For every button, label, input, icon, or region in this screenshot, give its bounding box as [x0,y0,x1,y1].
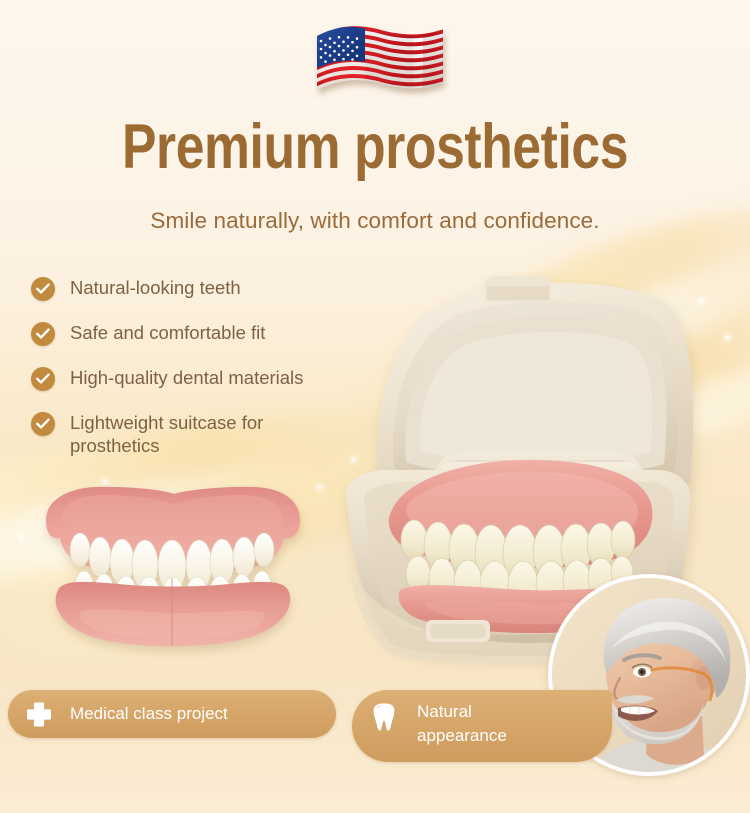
badge-medical-class-project: Medical class project [8,690,336,738]
feature-label: Natural-looking teeth [70,276,241,299]
feature-list: Natural-looking teeth Safe and comfortab… [31,276,361,457]
us-flag-icon [303,20,453,115]
page-title: Premium prosthetics [68,112,683,182]
page-subtitle: Smile naturally, with comfort and confid… [0,208,750,234]
product-banner: Premium prosthetics Smile naturally, wit… [0,0,750,813]
check-circle-icon [31,322,55,346]
tooth-icon [369,700,399,734]
feature-label: Lightweight suitcase for prosthetics [70,411,285,457]
badge-label-line-1: Natural [417,702,472,721]
medical-cross-icon [24,697,54,731]
list-item: Lightweight suitcase for prosthetics [31,411,361,457]
denture-set-photo [34,478,310,658]
badge-label-line-2: appearance [417,726,507,745]
badge-label: Natural appearance [417,700,507,748]
list-item: High-quality dental materials [31,366,361,391]
check-circle-icon [31,277,55,301]
check-circle-icon [31,412,55,436]
badge-label: Medical class project [70,702,228,726]
badge-natural-appearance: Natural appearance [352,690,612,762]
check-circle-icon [31,367,55,391]
list-item: Natural-looking teeth [31,276,361,301]
feature-label: High-quality dental materials [70,366,303,389]
feature-label: Safe and comfortable fit [70,321,265,344]
list-item: Safe and comfortable fit [31,321,361,346]
